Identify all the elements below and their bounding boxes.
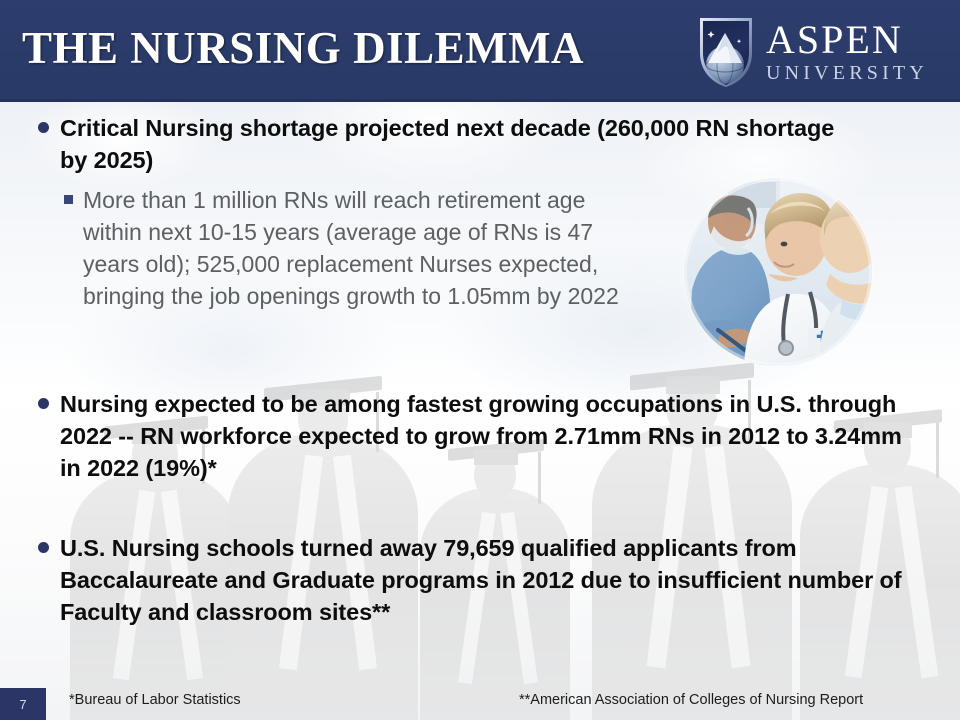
shield-icon xyxy=(698,15,754,87)
bullet-square-icon xyxy=(64,195,73,204)
bullet-text: Nursing expected to be among fastest gro… xyxy=(60,388,928,484)
nurses-photo xyxy=(684,178,872,366)
logo-name: ASPEN xyxy=(766,20,928,60)
sub-bullet-item: More than 1 million RNs will reach retir… xyxy=(64,184,624,312)
aspen-university-logo: ASPEN UNIVERSITY xyxy=(698,14,928,88)
page-number: 7 xyxy=(0,688,46,720)
bullet-dot-icon xyxy=(38,542,49,553)
bullet-dot-icon xyxy=(38,398,49,409)
bullet-item: Nursing expected to be among fastest gro… xyxy=(38,388,928,484)
bullet-dot-icon xyxy=(38,122,49,133)
bullet-text: U.S. Nursing schools turned away 79,659 … xyxy=(60,532,928,628)
bullet-item: Critical Nursing shortage projected next… xyxy=(38,112,848,176)
slide-header-band: THE NURSING DILEMMA xyxy=(0,0,960,102)
sub-bullet-text: More than 1 million RNs will reach retir… xyxy=(83,184,624,312)
footnote-left: *Bureau of Labor Statistics xyxy=(69,692,241,708)
logo-subtitle: UNIVERSITY xyxy=(766,63,928,83)
page-title: THE NURSING DILEMMA xyxy=(22,20,584,76)
logo-wordmark: ASPEN UNIVERSITY xyxy=(766,20,928,83)
presentation-slide: THE NURSING DILEMMA xyxy=(0,0,960,720)
footnote-right: **American Association of Colleges of Nu… xyxy=(519,692,863,708)
bullet-item: U.S. Nursing schools turned away 79,659 … xyxy=(38,532,928,628)
bullet-text: Critical Nursing shortage projected next… xyxy=(60,112,848,176)
